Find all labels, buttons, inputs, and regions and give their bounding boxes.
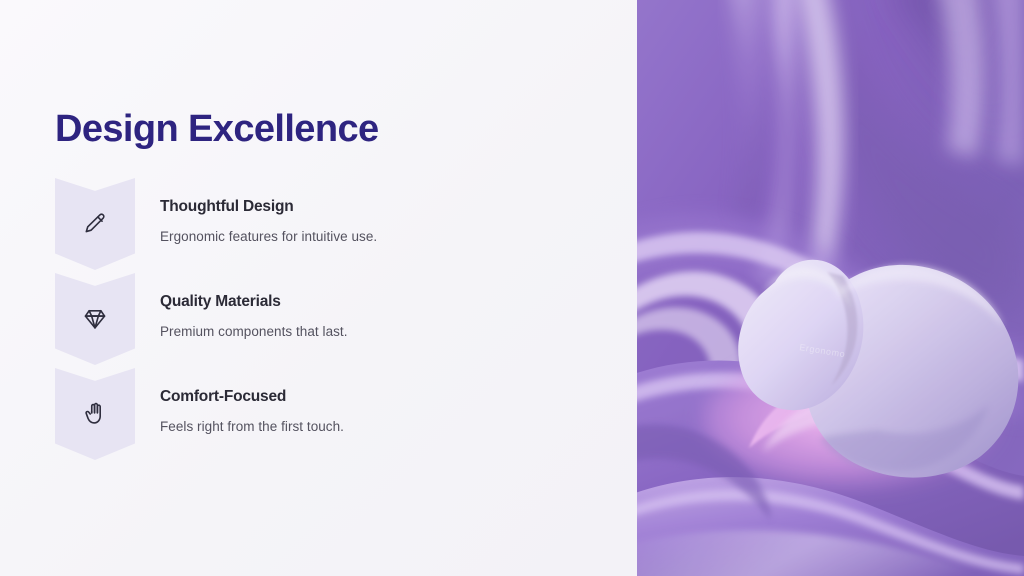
feature-item-thoughtful-design: Thoughtful Design Ergonomic features for… [55,178,575,273]
pencil-icon [82,211,108,237]
feature-title: Comfort-Focused [160,388,570,406]
feature-text-2: Quality Materials Premium components tha… [160,293,570,339]
page-title: Design Excellence [55,108,379,151]
feature-item-quality-materials: Quality Materials Premium components tha… [55,273,575,368]
feature-list: Thoughtful Design Ergonomic features for… [55,178,575,463]
feature-description: Feels right from the first touch. [160,419,570,434]
slide-root: Design Excellence Thoughtful Design Ergo… [0,0,1024,576]
feature-badge-1 [55,178,135,270]
product-image-artwork: Ergonomo [637,0,1024,576]
feature-description: Premium components that last. [160,324,570,339]
feature-badge-3 [55,368,135,460]
feature-title: Thoughtful Design [160,198,570,216]
left-content-panel: Design Excellence Thoughtful Design Ergo… [0,0,637,576]
hand-icon [82,401,108,427]
feature-text-3: Comfort-Focused Feels right from the fir… [160,388,570,434]
diamond-icon [82,306,108,332]
feature-description: Ergonomic features for intuitive use. [160,229,570,244]
feature-title: Quality Materials [160,293,570,311]
feature-item-comfort-focused: Comfort-Focused Feels right from the fir… [55,368,575,463]
feature-text-1: Thoughtful Design Ergonomic features for… [160,198,570,244]
product-image: Ergonomo [637,0,1024,576]
feature-badge-2 [55,273,135,365]
